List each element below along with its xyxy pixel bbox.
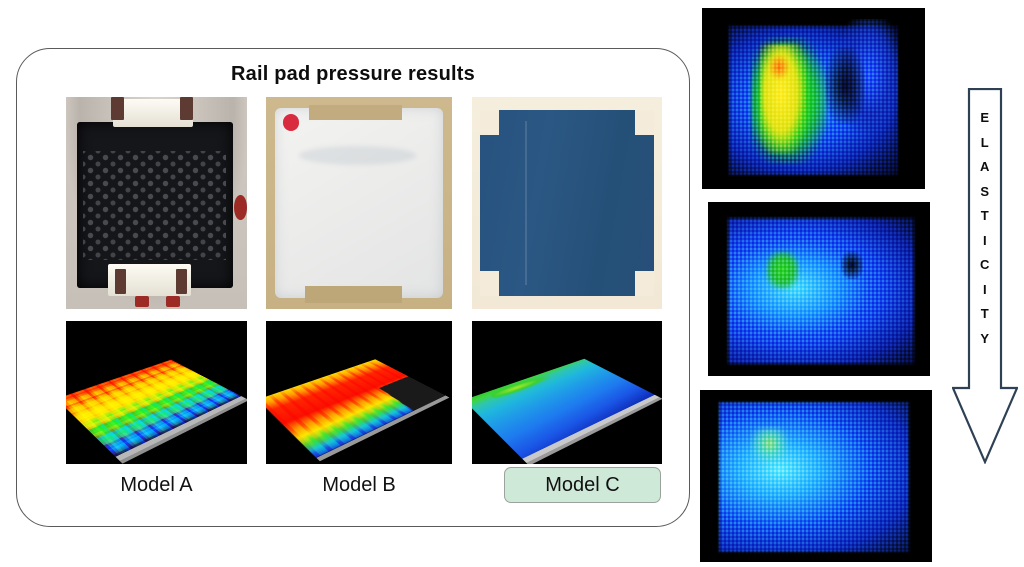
model-label-c-highlighted[interactable]: Model C [504, 467, 661, 503]
surface-mesh-c [472, 359, 654, 459]
elasticity-letter: E [952, 106, 1018, 131]
elasticity-letter: T [952, 204, 1018, 229]
blue-flat-rail-pad-photo [472, 97, 662, 309]
pad-corner-cut-bl [480, 271, 499, 296]
pad-corner-cut-tl [480, 110, 499, 135]
clip-peg-tl [111, 97, 124, 120]
heatmap-sensor-grid-a [702, 8, 925, 189]
pad-corner-cut-br [635, 271, 654, 296]
plot-canvas-a [66, 321, 247, 464]
heatmap-sensor-grid-c [700, 390, 932, 562]
clip-peg-bl [115, 269, 126, 294]
fastener-bolt-left [135, 296, 149, 307]
rail-pad-results-card: Rail pad pressure results [16, 48, 690, 527]
white-flat-rail-pad-photo [266, 97, 452, 309]
heatmap-sensor-grid-b [708, 202, 930, 376]
studded-black-rail-pad-photo [66, 97, 247, 309]
plot-canvas-b [266, 321, 452, 464]
pad-body-b [275, 108, 442, 299]
elasticity-letter: T [952, 302, 1018, 327]
elasticity-letter: I [952, 229, 1018, 254]
elasticity-letter: Y [952, 327, 1018, 352]
surface-mesh-b [266, 360, 445, 458]
pressure-surface-plot-model-b [266, 321, 452, 464]
elasticity-arrow: E L A S T I C I T Y [952, 88, 1018, 464]
page-title: Rail pad pressure results [17, 63, 689, 86]
clip-peg-br [176, 269, 187, 294]
pad-body-c [480, 110, 655, 297]
clip-peg-tr [180, 97, 193, 120]
fastener-bolt-right [166, 296, 180, 307]
pressure-heatmap-model-c [700, 390, 932, 562]
pad-body-a [77, 122, 233, 287]
model-label-b: Model B [266, 469, 452, 501]
elasticity-letter: I [952, 278, 1018, 303]
plot-canvas-c [472, 321, 662, 464]
pressure-heatmap-model-b [708, 202, 930, 376]
pad-corner-cut-tr [635, 110, 654, 135]
pressure-surface-plot-model-c [472, 321, 662, 464]
surface-hotspot-c [488, 373, 555, 400]
pad-notch-bottom [305, 286, 402, 303]
elasticity-letter: C [952, 253, 1018, 278]
surface-mesh-a [66, 360, 241, 457]
pressure-surface-plot-model-a [66, 321, 247, 464]
stud-pattern [83, 151, 226, 260]
elasticity-letter: S [952, 180, 1018, 205]
pad-surface-smudge [299, 146, 416, 165]
elasticity-label: E L A S T I C I T Y [952, 106, 1018, 351]
model-label-a: Model A [66, 469, 247, 501]
pad-notch-top [309, 105, 402, 120]
fastener-bolt-side [234, 195, 247, 220]
pad-seam-line [525, 121, 527, 285]
pressure-heatmap-model-a [702, 8, 925, 189]
elasticity-letter: L [952, 131, 1018, 156]
elasticity-letter: A [952, 155, 1018, 180]
